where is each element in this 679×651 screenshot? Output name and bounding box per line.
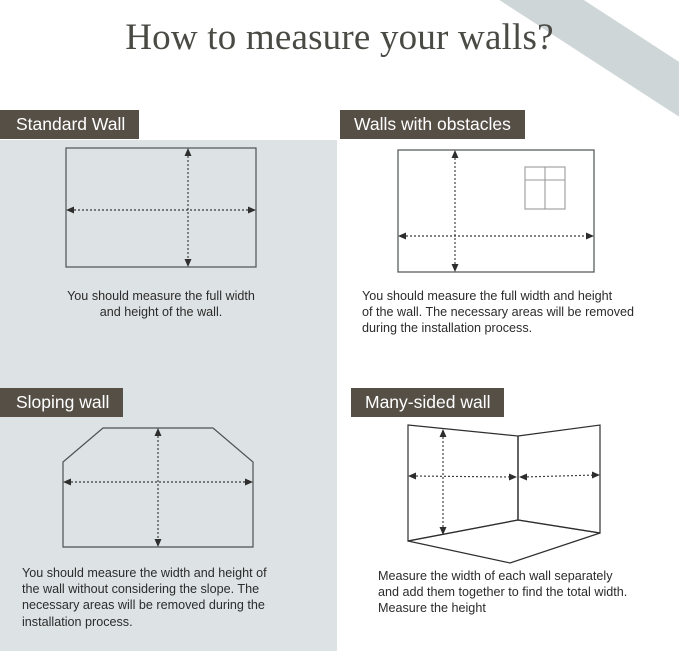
infographic-page: How to measure your walls? Standard Wall… bbox=[0, 0, 679, 651]
caption-walls-with-obstacles: You should measure the full width and he… bbox=[362, 288, 662, 337]
diagram-many-sided-wall bbox=[370, 415, 640, 570]
section-heading-walls-with-obstacles: Walls with obstacles bbox=[340, 110, 525, 139]
diagram-standard-wall bbox=[40, 140, 260, 275]
caption-many-sided-wall: Measure the width of each wall separatel… bbox=[378, 568, 668, 617]
caption-sloping-wall: You should measure the width and height … bbox=[22, 565, 308, 630]
page-title: How to measure your walls? bbox=[0, 16, 679, 59]
caption-standard-wall: You should measure the full width and he… bbox=[16, 288, 306, 320]
diagram-sloping-wall bbox=[40, 418, 265, 558]
section-heading-standard-wall: Standard Wall bbox=[0, 110, 139, 139]
diagram-walls-with-obstacles bbox=[385, 140, 610, 280]
section-heading-sloping-wall: Sloping wall bbox=[0, 388, 123, 417]
section-heading-many-sided-wall: Many-sided wall bbox=[351, 388, 504, 417]
